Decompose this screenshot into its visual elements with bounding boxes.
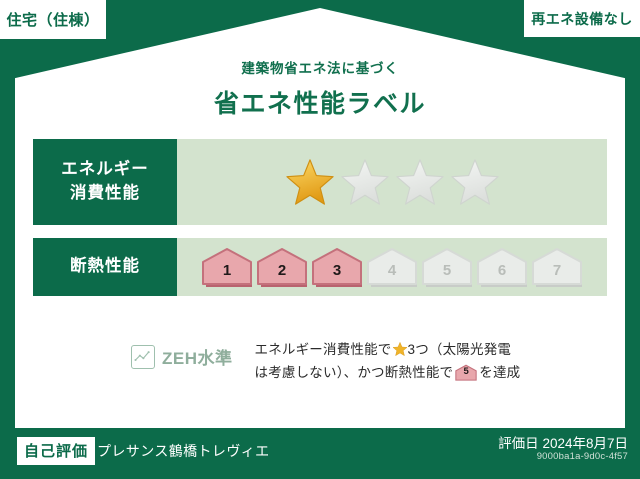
star-filled-icon: [284, 157, 336, 207]
zeh-desc-text-c: は考慮しない）、かつ断熱性能で: [255, 365, 454, 380]
zeh-desc-text-d: を達成: [479, 365, 520, 380]
insulation-grade-value: 5: [443, 263, 451, 287]
insulation-grade-value: 4: [388, 263, 396, 287]
star-empty-icon: [449, 157, 501, 207]
insulation-grade-value: 1: [223, 263, 231, 287]
building-type-tag: 住宅（住棟）: [0, 0, 106, 39]
energy-performance-label: 住宅（住棟） 再エネ設備なし 建築物省エネ法に基づく 省エネ性能ラベル エネルギ…: [0, 0, 640, 479]
insulation-grade-badge: 2: [256, 247, 308, 287]
energy-performance-row-label: エネルギー 消費性能: [33, 139, 177, 225]
insulation-grade-value: 7: [553, 263, 561, 287]
label-title-block: 建築物省エネ法に基づく 省エネ性能ラベル: [0, 57, 640, 120]
zeh-mark-label: ZEH水準: [162, 344, 233, 369]
insulation-grade-badge: 7: [531, 247, 583, 287]
star-empty-icon: [339, 157, 391, 207]
zeh-description-line1: エネルギー消費性能で3つ（太陽光発電: [255, 338, 521, 361]
energy-performance-row: エネルギー 消費性能: [33, 139, 607, 225]
zeh-description: エネルギー消費性能で3つ（太陽光発電 は考慮しない）、かつ断熱性能で5を達成: [255, 338, 521, 384]
building-type-tag-label: 住宅（住棟）: [6, 9, 99, 30]
insulation-grade-badge: 1: [201, 247, 253, 287]
label-id: 9000ba1a-9d0c-4f57: [537, 451, 628, 462]
title-subtitle: 建築物省エネ法に基づく: [0, 57, 640, 77]
zeh-desc-text-a: エネルギー消費性能で: [255, 342, 392, 357]
inline-badge-value: 5: [455, 364, 477, 380]
star-empty-icon: [394, 157, 446, 207]
renewable-equipment-tag: 再エネ設備なし: [524, 0, 640, 37]
label-footer: 自己評価 プレサンス鶴橋トレヴィエ 評価日 2024年8月7日 9000ba1a…: [0, 428, 640, 479]
zeh-chart-icon: [131, 345, 155, 369]
energy-label-line2: 消費性能: [70, 182, 140, 206]
inline-insulation-badge: 5: [455, 364, 477, 381]
insulation-performance-row-label: 断熱性能: [33, 238, 177, 296]
zeh-desc-text-b: 3つ（太陽光発電: [408, 342, 512, 357]
building-name: プレサンス鶴橋トレヴィエ: [97, 441, 270, 461]
insulation-rating-body: 1234567: [177, 238, 607, 296]
insulation-grade-scale: 1234567: [201, 247, 583, 287]
insulation-grade-value: 6: [498, 263, 506, 287]
evaluation-date: 評価日 2024年8月7日: [498, 432, 628, 452]
energy-rating-body: [177, 139, 607, 225]
insulation-grade-badge: 4: [366, 247, 418, 287]
inline-star-icon: [392, 341, 408, 357]
page-title: 省エネ性能ラベル: [0, 84, 640, 120]
insulation-performance-row: 断熱性能 1234567: [33, 238, 607, 296]
energy-label-line1: エネルギー: [61, 158, 149, 182]
insulation-label: 断熱性能: [70, 255, 140, 279]
zeh-standard-section: ZEH水準 エネルギー消費性能で3つ（太陽光発電 は考慮しない）、かつ断熱性能で…: [33, 333, 607, 395]
insulation-grade-badge: 5: [421, 247, 473, 287]
insulation-grade-badge: 6: [476, 247, 528, 287]
insulation-grade-badge: 3: [311, 247, 363, 287]
evaluation-type-badge: 自己評価: [17, 437, 95, 465]
star-rating: [284, 157, 501, 207]
insulation-grade-value: 3: [333, 263, 341, 287]
zeh-mark: ZEH水準: [131, 344, 233, 369]
zeh-description-line2: は考慮しない）、かつ断熱性能で5を達成: [255, 361, 521, 384]
renewable-equipment-tag-label: 再エネ設備なし: [531, 9, 633, 29]
insulation-grade-value: 2: [278, 263, 286, 287]
